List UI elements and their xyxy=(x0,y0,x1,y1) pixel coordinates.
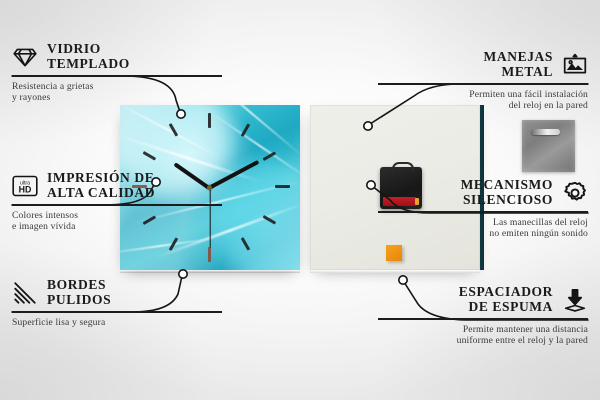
callout-vidrio-templado[interactable]: VIDRIO TEMPLADO Resistencia a grietas y … xyxy=(12,42,222,104)
callout-title: MECANISMO SILENCIOSO xyxy=(461,178,553,207)
callout-mecanismo-silencioso[interactable]: MECANISMO SILENCIOSO Las manecillas del … xyxy=(378,178,588,240)
callout-title: BORDES PULIDOS xyxy=(47,278,111,307)
callout-title: IMPRESIÓN DE ALTA CALIDAD xyxy=(47,171,155,200)
clock-tick xyxy=(275,185,290,188)
clock-bottom-edge xyxy=(120,270,300,273)
callout-desc-line1: Resistencia a grietas xyxy=(12,81,93,92)
callout-title-line1: IMPRESIÓN DE xyxy=(47,170,154,185)
callout-header: MECANISMO SILENCIOSO xyxy=(378,178,588,207)
callout-title-line1: MECANISMO xyxy=(461,177,553,192)
callout-divider xyxy=(12,204,222,206)
callout-header: BORDES PULIDOS xyxy=(12,278,222,307)
callout-description: Permiten una fácil instalación del reloj… xyxy=(378,89,588,112)
callout-description: Colores intensos e imagen vívida xyxy=(12,210,222,233)
callout-desc-line2: y rayones xyxy=(12,92,50,103)
callout-desc-line1: Permiten una fácil instalación xyxy=(469,89,588,100)
callout-title-line2: SILENCIOSO xyxy=(463,192,553,207)
callout-divider xyxy=(12,311,222,313)
metal-hanger-plate xyxy=(522,120,575,172)
callout-title-line2: METAL xyxy=(501,64,553,79)
callout-desc-line1: Las manecillas del reloj xyxy=(493,217,588,228)
foam-spacer xyxy=(386,245,402,261)
callout-description: Las manecillas del reloj no emiten ningú… xyxy=(378,217,588,240)
callout-title-line2: ALTA CALIDAD xyxy=(47,185,155,200)
callout-title-line1: BORDES xyxy=(47,277,106,292)
callout-description: Superficie lisa y segura xyxy=(12,317,222,329)
ultra-hd-icon: ultra HD xyxy=(12,173,38,199)
callout-title-line2: DE ESPUMA xyxy=(468,299,553,314)
callout-espaciador-espuma[interactable]: ESPACIADOR DE ESPUMA Permite mantener un… xyxy=(378,285,588,347)
callout-bordes-pulidos[interactable]: BORDES PULIDOS Superficie lisa y segura xyxy=(12,278,222,328)
callout-desc-line2: no emiten ningún sonido xyxy=(489,228,588,239)
callout-title-line1: VIDRIO xyxy=(47,41,101,56)
callout-desc-line1: Superficie lisa y segura xyxy=(12,317,105,328)
arrow-down-pad-icon xyxy=(562,287,588,313)
back-panel-bottom-edge xyxy=(310,270,480,273)
diamond-icon xyxy=(12,44,38,70)
hanger-slot xyxy=(531,129,560,135)
callout-description: Resistencia a grietas y rayones xyxy=(12,81,222,104)
callout-title: ESPACIADOR DE ESPUMA xyxy=(459,285,553,314)
callout-title: MANEJAS METAL xyxy=(484,50,553,79)
callout-title-line2: TEMPLADO xyxy=(47,56,130,71)
callout-description: Permite mantener una distancia uniforme … xyxy=(378,324,588,347)
callout-impresion-alta-calidad[interactable]: ultra HD IMPRESIÓN DE ALTA CALIDAD Color… xyxy=(12,171,222,233)
callout-header: ESPACIADOR DE ESPUMA xyxy=(378,285,588,314)
callout-desc-line1: Colores intensos xyxy=(12,210,78,221)
picture-frame-hanger-icon xyxy=(562,52,588,78)
mechanism-loop xyxy=(392,162,414,172)
clock-tick xyxy=(208,247,211,262)
callout-manejas-metal[interactable]: MANEJAS METAL Permiten una fácil instala… xyxy=(378,50,588,112)
callout-desc-line1: Permite mantener una distancia xyxy=(463,324,588,335)
callout-header: VIDRIO TEMPLADO xyxy=(12,42,222,71)
clock-tick xyxy=(208,113,211,128)
svg-text:HD: HD xyxy=(19,184,32,194)
callout-desc-line2: e imagen vívida xyxy=(12,221,76,232)
connector-dot-espaciador-espuma xyxy=(399,276,407,284)
callout-title: VIDRIO TEMPLADO xyxy=(47,42,130,71)
callout-desc-line2: del reloj en la pared xyxy=(509,100,588,111)
infographic-canvas: VIDRIO TEMPLADO Resistencia a grietas y … xyxy=(0,0,600,400)
callout-header: ultra HD IMPRESIÓN DE ALTA CALIDAD xyxy=(12,171,222,200)
callout-title-line1: MANEJAS xyxy=(484,49,553,64)
callout-title-line2: PULIDOS xyxy=(47,292,111,307)
callout-desc-line2: uniforme entre el reloj y la pared xyxy=(457,335,588,346)
callout-title-line1: ESPACIADOR xyxy=(459,284,553,299)
callout-divider xyxy=(378,83,588,85)
callout-header: MANEJAS METAL xyxy=(378,50,588,79)
beveled-edge-icon xyxy=(12,280,38,306)
callout-divider xyxy=(12,75,222,77)
gear-icon xyxy=(562,180,588,206)
callout-divider xyxy=(378,211,588,213)
callout-divider xyxy=(378,318,588,320)
